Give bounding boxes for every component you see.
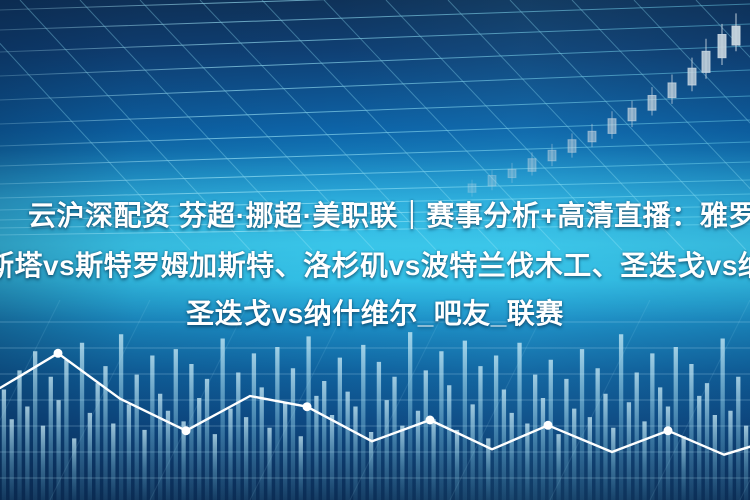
headline-line-2: 斯塔vs斯特罗姆加斯特、洛杉矶vs波特兰伐木工、圣迭戈vs纳什维 [0,247,750,285]
headline-line-1: 云沪深配资 芬超·挪超·美职联｜赛事分析+高清直播：雅罗vs [28,197,750,235]
banner-image: 云沪深配资 芬超·挪超·美职联｜赛事分析+高清直播：雅罗vs 斯塔vs斯特罗姆加… [0,0,750,500]
candlestick-chart-graphic [0,0,750,210]
headline-line-3: 圣迭戈vs纳什维尔_吧友_联赛 [0,295,750,333]
